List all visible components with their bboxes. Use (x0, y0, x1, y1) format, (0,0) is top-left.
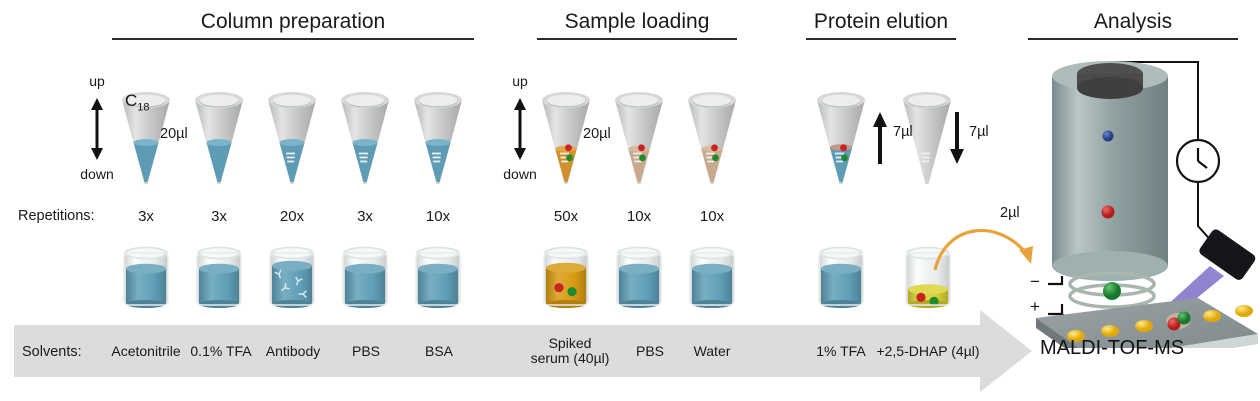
axis-up-label-1: up (75, 73, 119, 89)
solvent-label: Water (650, 344, 774, 359)
axis-double-arrow-2 (510, 98, 530, 165)
axis-down-label-2: down (498, 166, 542, 182)
c18-label: C18 (125, 91, 150, 113)
figure-canvas: Column preparation Sample loading Protei… (0, 0, 1260, 401)
section-title-analysis: Analysis (1028, 10, 1238, 40)
repetition-value: 3x (116, 208, 176, 225)
pipette-tip-pbs (337, 78, 393, 186)
repetitions-label: Repetitions: (18, 208, 95, 224)
section-title-label: Column preparation (112, 10, 474, 34)
reagent-vial-acetonitrile (119, 243, 173, 309)
c18-sub: 18 (137, 101, 149, 113)
axis-double-arrow-1 (87, 98, 107, 165)
solvent-label-line1: Water (650, 344, 774, 359)
axis-up-label-2: up (498, 73, 542, 89)
volume-label-7ul-down: 7µl (969, 124, 989, 140)
section-title-label: Protein elution (806, 10, 956, 34)
section-rule (806, 38, 956, 40)
repetition-value: 3x (189, 208, 249, 225)
section-title-label: Analysis (1028, 10, 1238, 34)
reagent-vial-pbs-2 (612, 243, 666, 309)
pipette-tip-elute-up (813, 78, 869, 186)
repetition-value: 20x (262, 208, 322, 225)
pipette-tip-wash-pbs (611, 78, 667, 186)
section-title-label: Sample loading (537, 10, 737, 34)
polarity-plus-label: + (1030, 297, 1040, 317)
solvent-label: +2,5-DHAP (4µl) (866, 344, 990, 359)
section-rule (1028, 38, 1238, 40)
reagent-vial-bsa (411, 243, 465, 309)
section-title-column-preparation: Column preparation (112, 10, 474, 40)
reagent-vial-water (685, 243, 739, 309)
repetition-value: 50x (536, 208, 596, 225)
solvent-label-line1: +2,5-DHAP (4µl) (866, 344, 990, 359)
repetition-value: 10x (609, 208, 669, 225)
pipette-tip-bsa (410, 78, 466, 186)
pipette-tip-antibody (264, 78, 320, 186)
reagent-vial-tfa-1 (814, 243, 868, 309)
reagent-vial-tfa-01 (192, 243, 246, 309)
solvent-label: BSA (377, 344, 501, 359)
section-rule (537, 38, 737, 40)
polarity-minus-label: − (1030, 272, 1040, 292)
maldi-tof-ms-label: MALDI-TOF-MS (1040, 337, 1184, 360)
reagent-vial-spiked-serum (539, 243, 593, 309)
pipette-tip-c18-2 (191, 78, 247, 186)
solvents-label: Solvents: (22, 344, 82, 360)
repetition-value: 3x (335, 208, 395, 225)
section-title-protein-elution: Protein elution (806, 10, 956, 40)
section-title-sample-loading: Sample loading (537, 10, 737, 40)
elution-up-arrow (872, 112, 888, 169)
repetition-value: 10x (682, 208, 742, 225)
pipette-tip-wash-water (684, 78, 740, 186)
reagent-vial-pbs-1 (338, 243, 392, 309)
c18-base: C (125, 91, 137, 110)
repetition-value: 10x (408, 208, 468, 225)
solvent-label-line1: BSA (377, 344, 501, 359)
volume-label-7ul-up: 7µl (893, 124, 913, 140)
section-rule (112, 38, 474, 40)
axis-down-label-1: down (75, 166, 119, 182)
elution-down-arrow (949, 112, 965, 169)
volume-label-20ul-load: 20µl (583, 126, 611, 142)
reagent-vial-antibody (265, 243, 319, 309)
volume-label-20ul-prep: 20µl (160, 126, 188, 142)
